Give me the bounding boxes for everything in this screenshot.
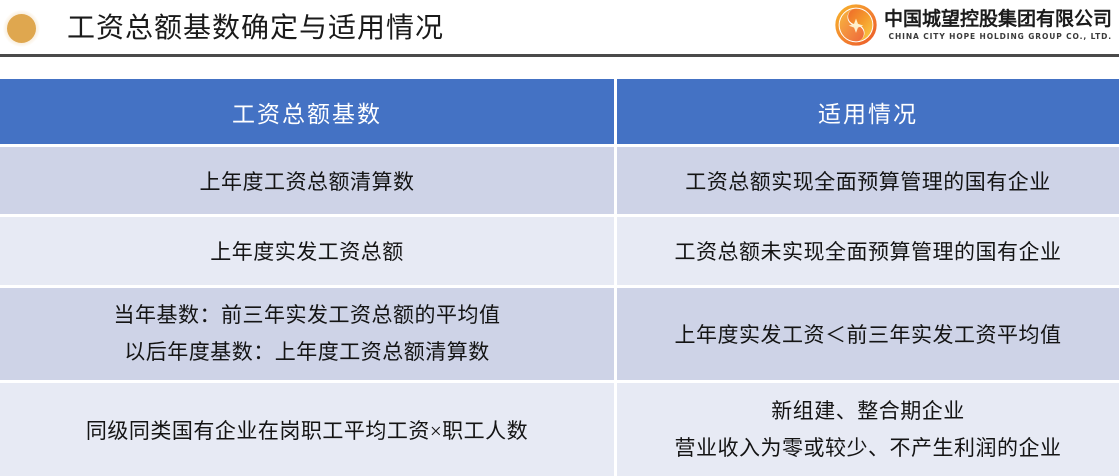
title-divider xyxy=(0,54,1119,57)
cell-line: 上年度工资总额清算数 xyxy=(200,166,415,196)
column-header-applicable-scope: 适用情况 xyxy=(617,79,1119,144)
cell-line: 工资总额实现全面预算管理的国有企业 xyxy=(685,166,1051,196)
cell-wage-base: 同级同类国有企业在岗职工平均工资×职工人数 xyxy=(0,383,617,476)
logo-company-cn: 中国城望控股集团有限公司 xyxy=(884,10,1112,29)
cell-applicable-scope: 上年度实发工资＜前三年实发工资平均值 xyxy=(617,288,1119,380)
cell-line: 新组建、整合期企业 xyxy=(771,393,965,430)
cell-line: 上年度实发工资＜前三年实发工资平均值 xyxy=(675,319,1062,349)
bullet-icon xyxy=(7,14,36,43)
cell-line: 同级同类国有企业在岗职工平均工资×职工人数 xyxy=(86,415,528,445)
logo-text-block: 中国城望控股集团有限公司 CHINA CITY HOPE HOLDING GRO… xyxy=(884,10,1112,41)
table-row: 当年基数：前三年实发工资总额的平均值 以后年度基数：上年度工资总额清算数 上年度… xyxy=(0,288,1119,383)
cell-multiline: 当年基数：前三年实发工资总额的平均值 以后年度基数：上年度工资总额清算数 xyxy=(114,297,501,371)
wage-base-table: 工资总额基数 适用情况 上年度工资总额清算数 工资总额实现全面预算管理的国有企业… xyxy=(0,79,1119,476)
cell-line: 工资总额未实现全面预算管理的国有企业 xyxy=(675,236,1062,266)
cell-line: 营业收入为零或较少、不产生利润的企业 xyxy=(675,430,1062,467)
logo-company-en: CHINA CITY HOPE HOLDING GROUP CO., LTD. xyxy=(884,33,1112,41)
cell-multiline: 新组建、整合期企业 营业收入为零或较少、不产生利润的企业 xyxy=(675,393,1062,467)
slide-header: 工资总额基数确定与适用情况 xyxy=(0,0,1119,58)
cell-line: 上年度实发工资总额 xyxy=(210,236,404,266)
column-header-wage-base: 工资总额基数 xyxy=(0,79,617,144)
cell-line: 当年基数：前三年实发工资总额的平均值 xyxy=(114,297,501,334)
cell-applicable-scope: 新组建、整合期企业 营业收入为零或较少、不产生利润的企业 xyxy=(617,383,1119,476)
cell-wage-base: 上年度工资总额清算数 xyxy=(0,147,617,214)
cell-wage-base: 上年度实发工资总额 xyxy=(0,217,617,285)
swirl-circle-logo-icon xyxy=(835,4,877,46)
cell-applicable-scope: 工资总额实现全面预算管理的国有企业 xyxy=(617,147,1119,214)
table-header-row: 工资总额基数 适用情况 xyxy=(0,79,1119,147)
table-row: 上年度实发工资总额 工资总额未实现全面预算管理的国有企业 xyxy=(0,217,1119,288)
cell-wage-base: 当年基数：前三年实发工资总额的平均值 以后年度基数：上年度工资总额清算数 xyxy=(0,288,617,380)
slide: 工资总额基数确定与适用情况 xyxy=(0,0,1119,476)
table-row: 上年度工资总额清算数 工资总额实现全面预算管理的国有企业 xyxy=(0,147,1119,217)
cell-applicable-scope: 工资总额未实现全面预算管理的国有企业 xyxy=(617,217,1119,285)
table-row: 同级同类国有企业在岗职工平均工资×职工人数 新组建、整合期企业 营业收入为零或较… xyxy=(0,383,1119,476)
company-logo: 中国城望控股集团有限公司 CHINA CITY HOPE HOLDING GRO… xyxy=(835,4,1112,46)
cell-line: 以后年度基数：上年度工资总额清算数 xyxy=(124,334,490,371)
page-title: 工资总额基数确定与适用情况 xyxy=(67,9,444,49)
